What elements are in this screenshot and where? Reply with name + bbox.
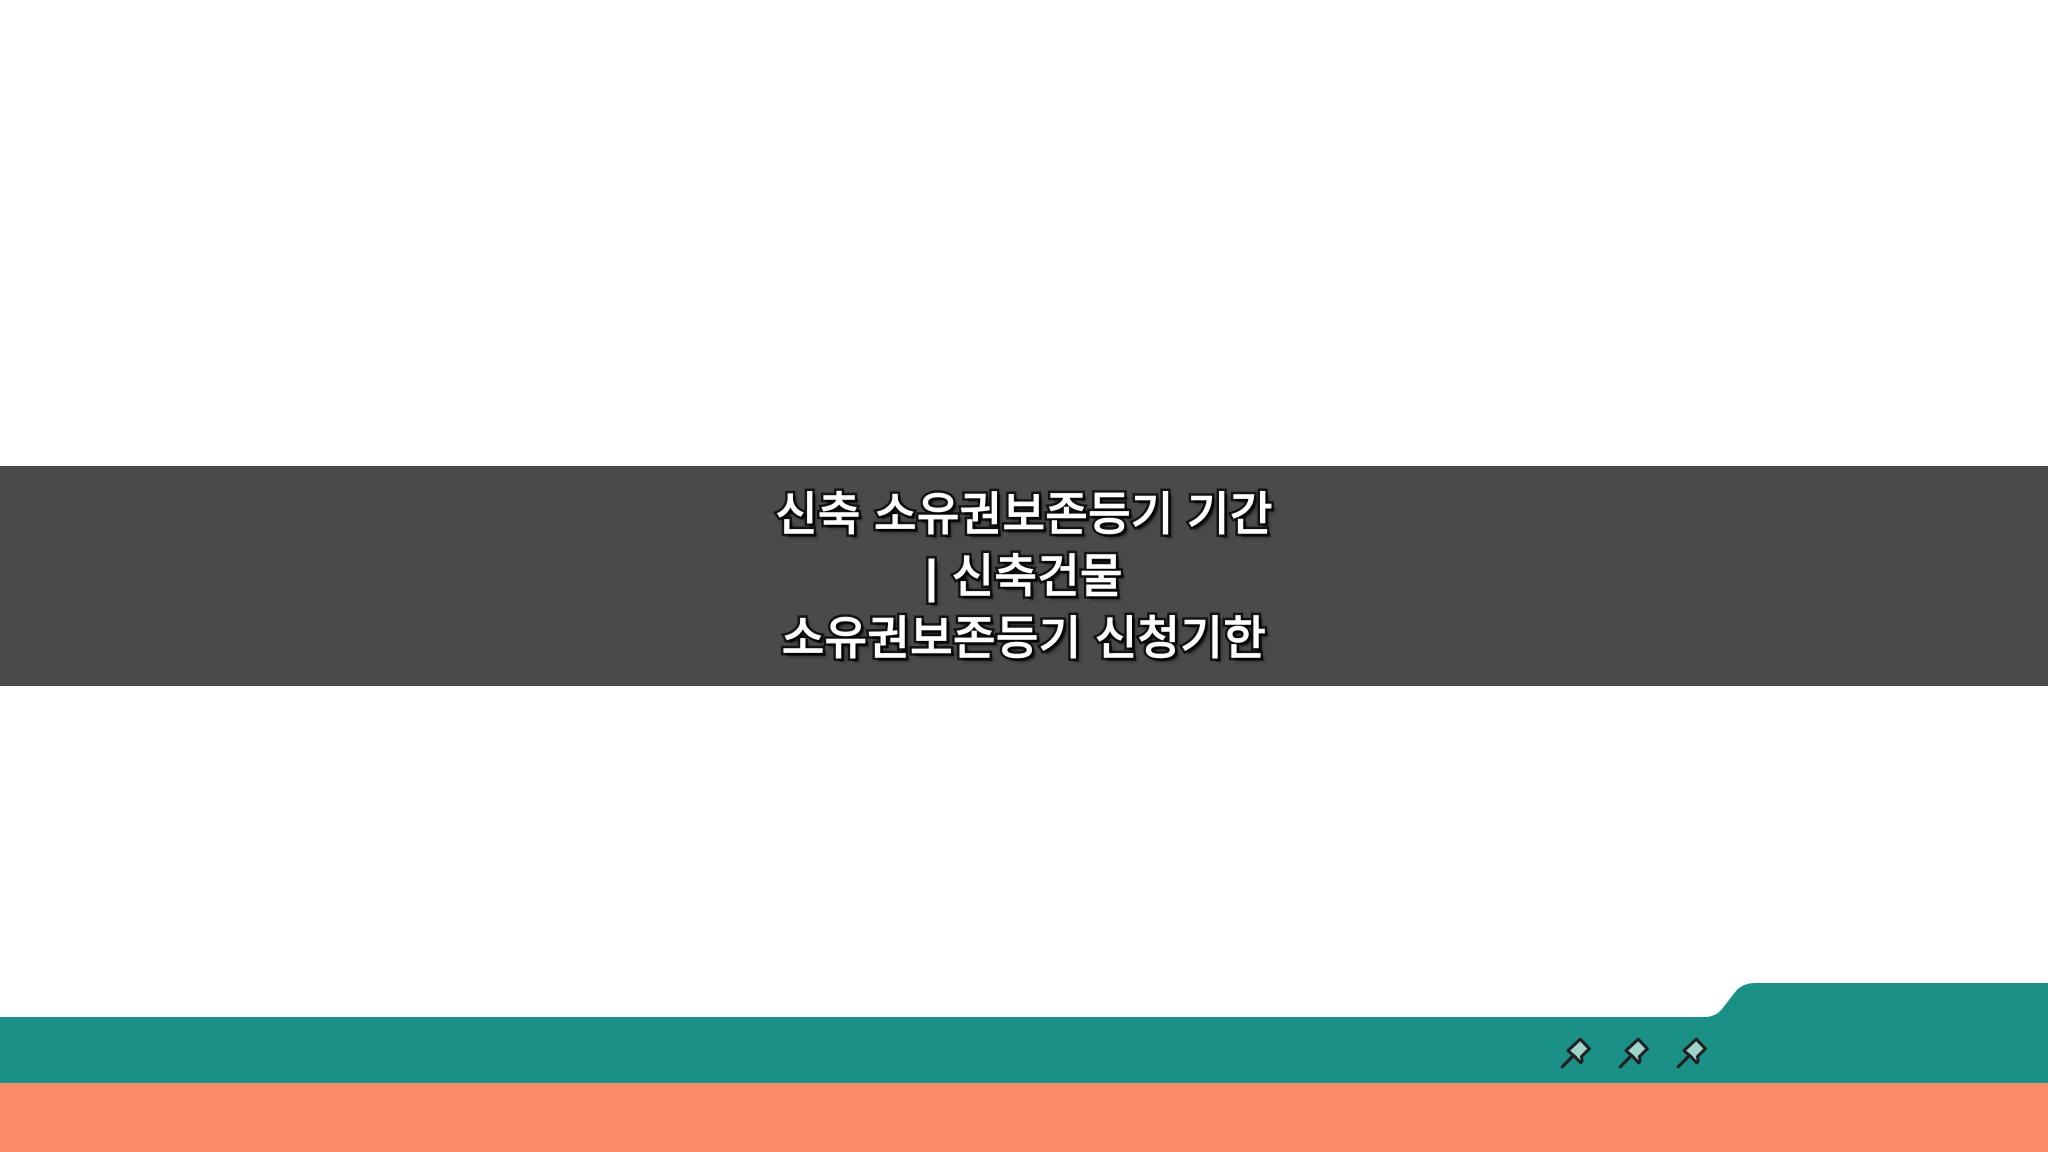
pushpin-1-icon <box>1558 1033 1596 1071</box>
title-text-stack: 신축 소유권보존등기 기간 | 신축건물 소유권보존등기 신청기한 <box>0 483 2048 669</box>
footer-coral-strip <box>0 1083 2048 1152</box>
middle-whitespace <box>0 686 2048 960</box>
title-line-1: 신축 소유권보존등기 기간 <box>0 483 2048 545</box>
pushpin-decor-row <box>1558 1026 1728 1078</box>
pushpin-2-icon <box>1616 1033 1654 1071</box>
title-banner: 신축 소유권보존등기 기간 | 신축건물 소유권보존등기 신청기한 <box>0 466 2048 686</box>
title-line-2: | 신축건물 <box>0 545 2048 607</box>
top-whitespace <box>0 0 2048 466</box>
thumbnail-canvas: 신축 소유권보존등기 기간 | 신축건물 소유권보존등기 신청기한 <box>0 0 2048 1152</box>
pushpin-3-icon <box>1674 1033 1712 1071</box>
title-line-3: 소유권보존등기 신청기한 <box>0 607 2048 669</box>
footer-teal-ribbon <box>0 960 2048 1090</box>
teal-ribbon-shape <box>0 960 2048 1090</box>
